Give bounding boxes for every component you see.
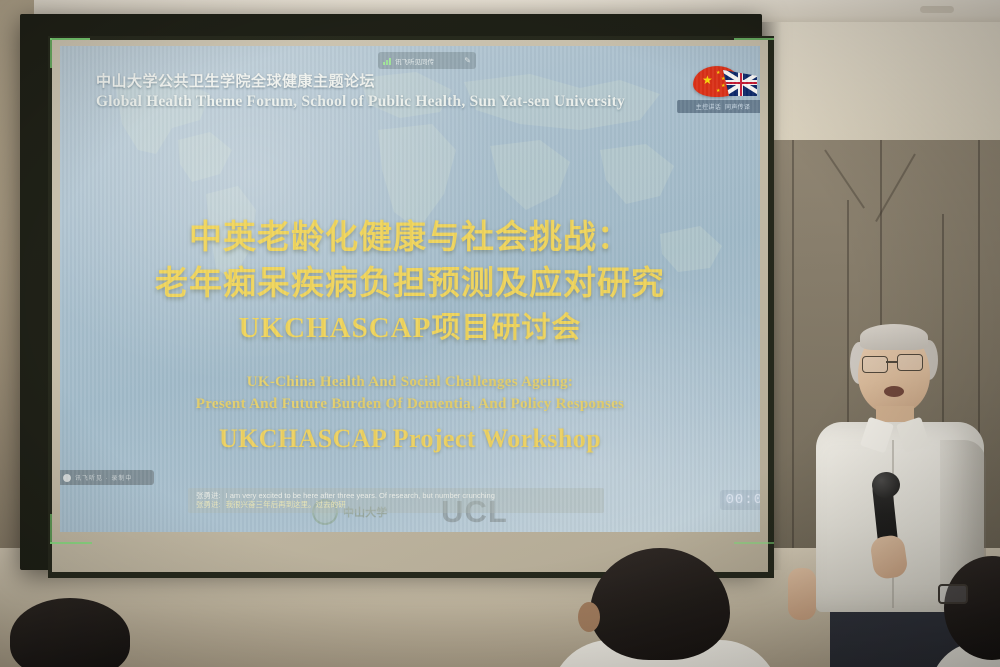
speaker-lower-hand [788,568,816,620]
flags-label-left: 主控讲话 [696,102,721,111]
slide-title-line1: 中英老龄化健康与社会挑战： [60,210,760,258]
speaker-glasses-right [897,354,923,371]
session-timer: 00:00 [720,490,760,510]
screen-marker-top-right [734,38,774,40]
live-caption-bar: 张勇进: I am very excited to be here after … [188,488,604,513]
speaker-hair-top [860,324,928,350]
audience-right-head [944,556,1000,660]
slide-title-line2: 老年痴呆疾病负担预测及应对研究 [60,256,760,304]
pen-icon[interactable]: ✎ [464,56,471,65]
audience-front-ear [578,602,600,632]
screen-marker-bottom-right [734,542,774,544]
transcription-toolbar[interactable]: 讯飞听见同传 ✎ [378,52,476,69]
audience-left-head [10,598,130,667]
screen-marker-top-left-v [50,38,52,68]
flags-badge: ★ ★ ★ ★ ★ 主控讲话 同声传译 [675,66,760,118]
projected-slide: 中山大学公共卫生学院全球健康主题论坛 Global Health Theme F… [60,46,760,532]
screen-marker-top-left [50,38,90,40]
screen-marker-bottom-left-v [50,514,52,544]
audience-member-left [0,598,150,667]
caption-speaker-1: 张勇进: [196,491,221,500]
caption-line-chinese: 张勇进: 我很兴奋三年后再到这里。过去的研 [196,500,596,509]
speaker-glasses-bridge [886,361,897,363]
caption-speaker-2: 张勇进: [196,500,221,509]
projection-screen-frame: 中山大学公共卫生学院全球健康主题论坛 Global Health Theme F… [20,14,762,570]
ceiling-vent [920,6,954,13]
audience-member-front [560,548,790,667]
audience-right-glasses [938,584,968,604]
speaker-glasses-left [862,356,888,373]
screen-marker-bottom-left [50,542,92,544]
recording-status-label: 讯飞听见 · 录制中 [75,473,132,482]
caption-text-1: I am very excited to be here after three… [226,491,495,500]
slide-subtitle-line3: UKCHASCAP Project Workshop [60,424,760,454]
slide-title-line3: UKCHASCAP项目研讨会 [60,304,760,346]
slide-header: 中山大学公共卫生学院全球健康主题论坛 Global Health Theme F… [96,70,625,111]
transcription-toolbar-label: 讯飞听见同传 [395,56,434,66]
audience-member-right [944,556,1000,667]
caption-text-2: 我很兴奋三年后再到这里。过去的研 [226,500,346,509]
upper-wall [752,22,1000,142]
audience-front-head [590,548,730,660]
record-dot-icon [63,474,71,482]
flags-badge-label: 主控讲话 同声传译 [677,100,760,113]
recording-status-widget[interactable]: 讯飞听见 · 录制中 [60,470,154,485]
speaker-mouth [884,386,904,397]
signal-bars-icon [383,57,391,65]
presentation-photo-scene: 中山大学公共卫生学院全球健康主题论坛 Global Health Theme F… [0,0,1000,667]
slide-header-english: Global Health Theme Forum, School of Pub… [96,93,625,111]
caption-line-english: 张勇进: I am very excited to be here after … [196,491,596,500]
flags-label-right: 同声传译 [725,102,750,111]
slide-subtitle-line1: UK-China Health And Social Challenges Ag… [60,374,760,391]
session-timer-value: 00:00 [725,492,760,508]
slide-subtitle-line2: Present And Future Burden Of Dementia, A… [60,396,760,413]
slide-header-chinese: 中山大学公共卫生学院全球健康主题论坛 [96,70,625,91]
